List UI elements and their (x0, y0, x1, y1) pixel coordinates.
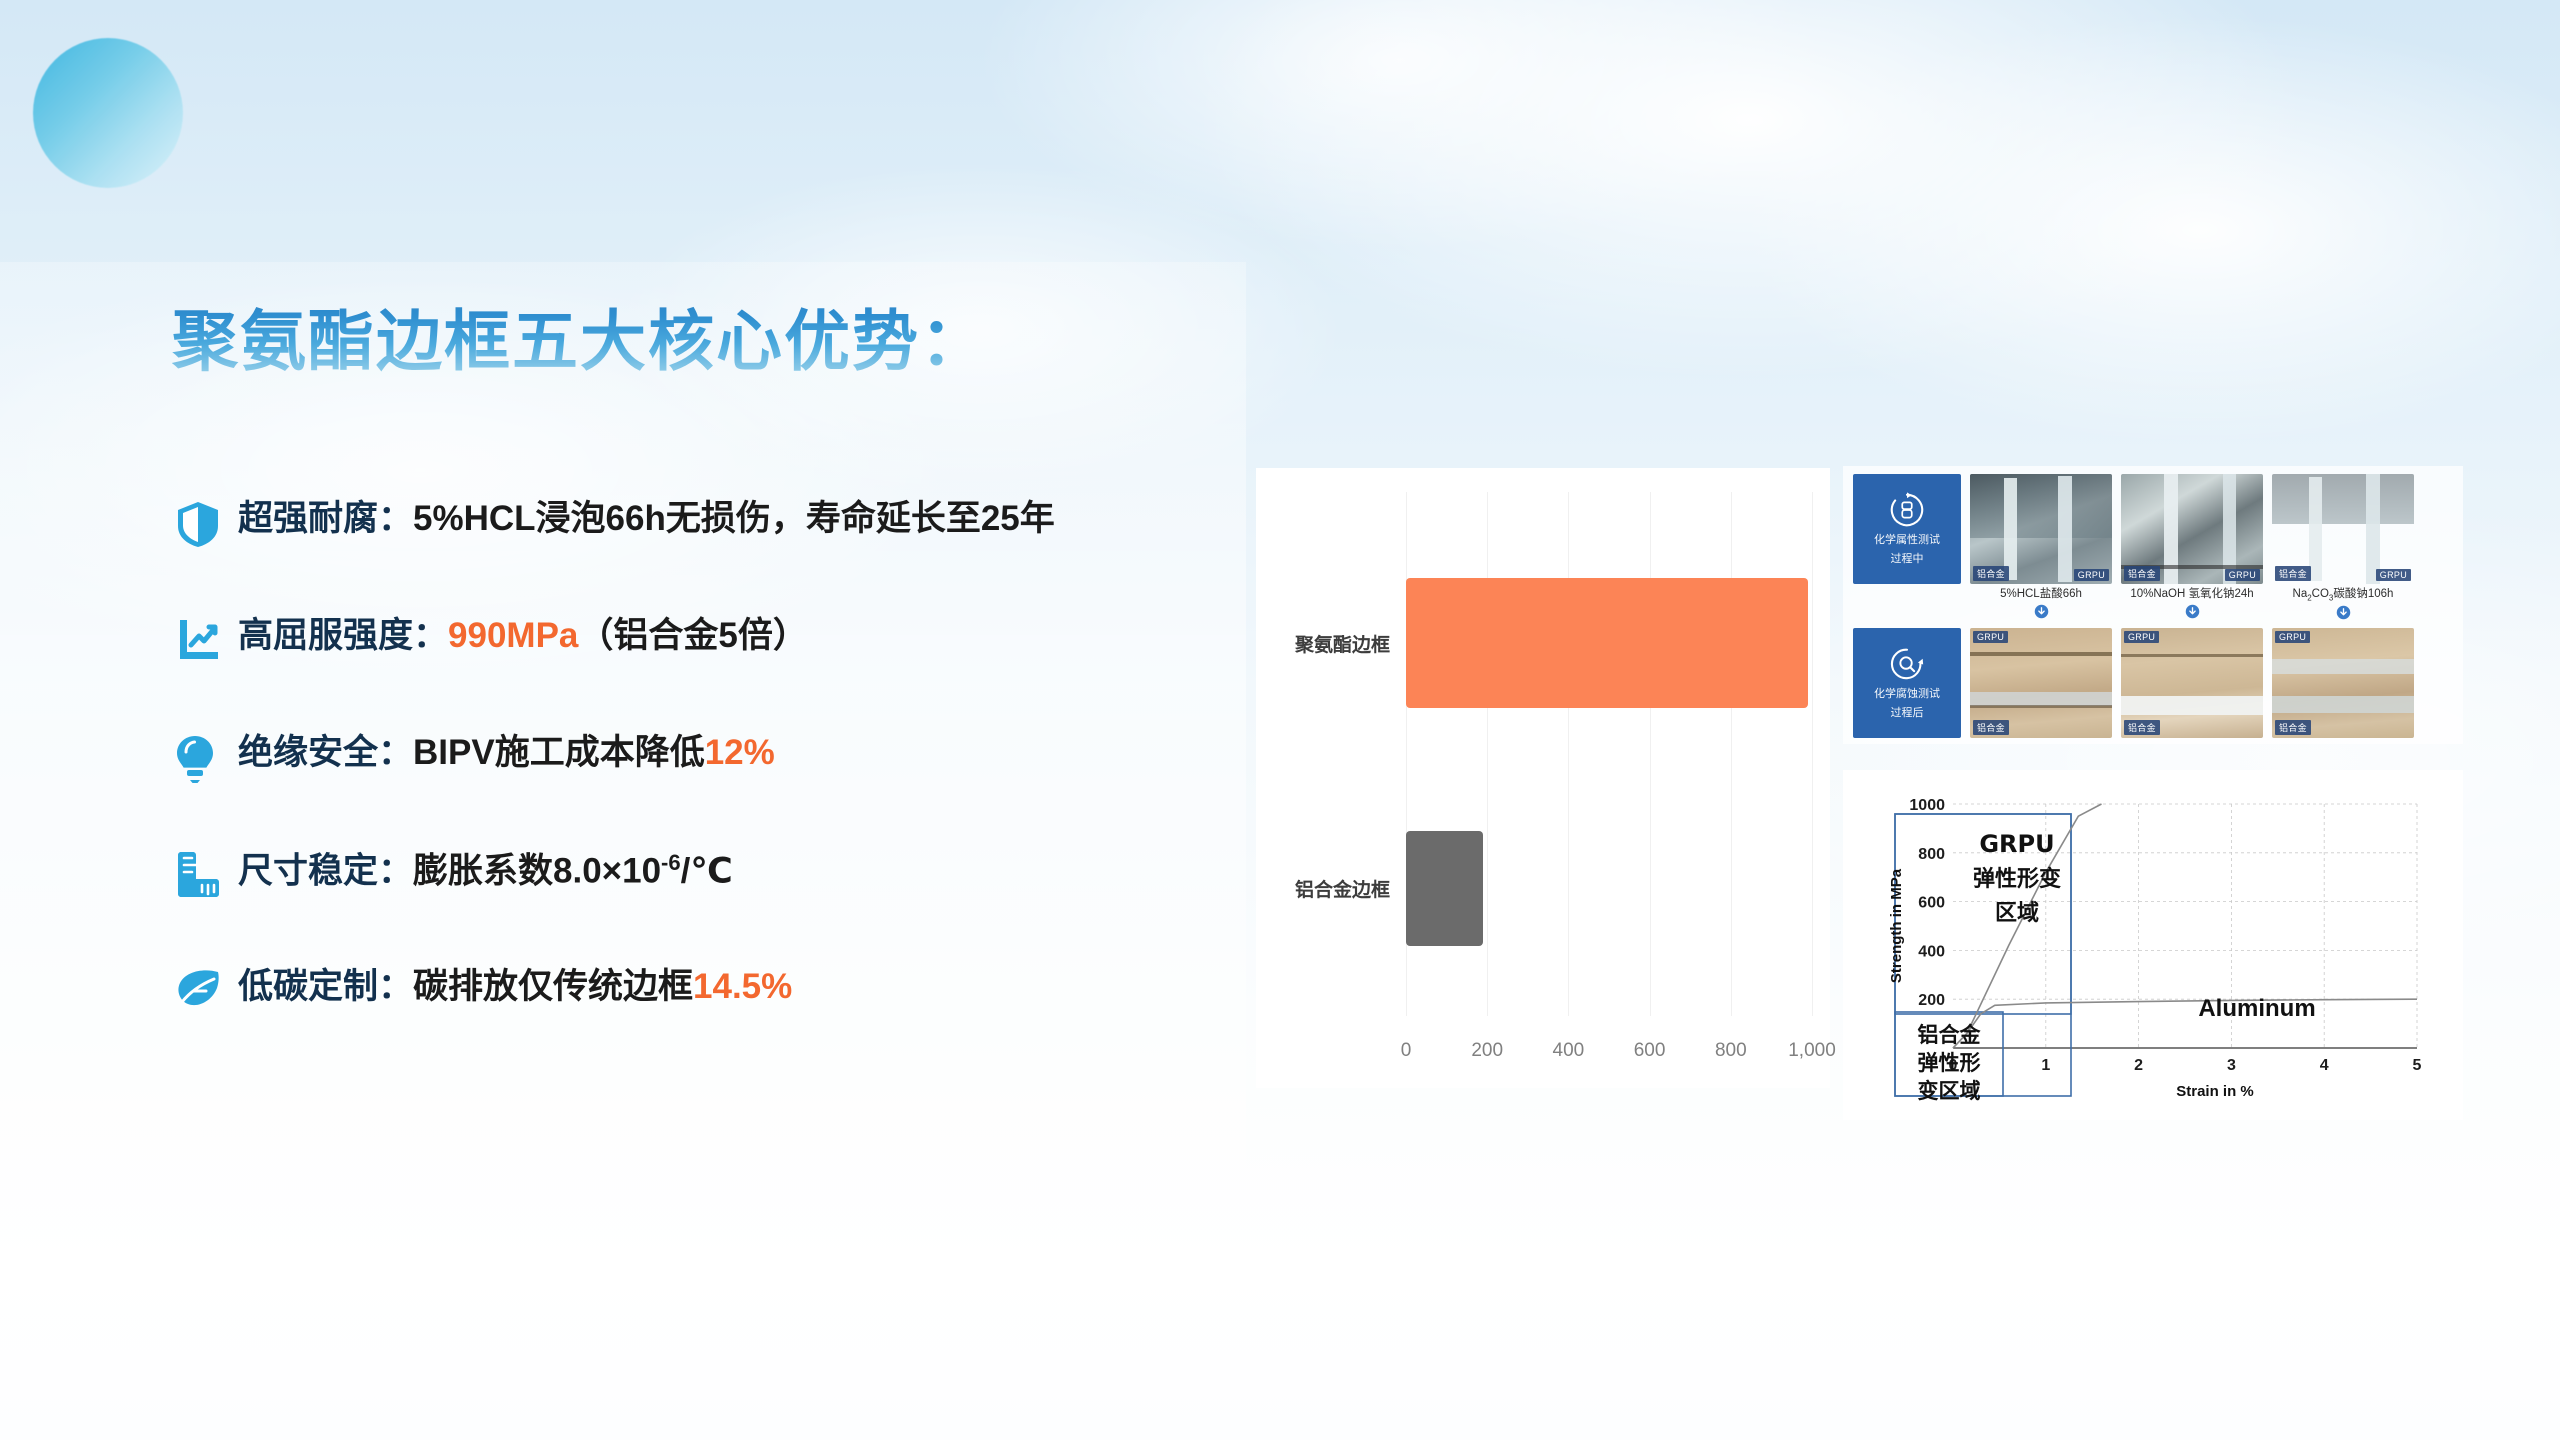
bullet-body: 膨胀系数8.0×10 (413, 852, 661, 891)
tile-caption-line2: 过程后 (1891, 707, 1924, 721)
list-item-text: 绝缘安全：BIPV施工成本降低12% (238, 730, 775, 773)
ss-y-tick: 600 (1918, 895, 1945, 912)
ss-x-tick: 1 (2041, 1057, 2050, 1074)
bullet-highlight: 14.5% (693, 967, 792, 1006)
chart-gridline (1812, 492, 1813, 1016)
caption-cell: Na2CO3碳酸钠106h (2272, 588, 2414, 628)
tile-caption-line2: 过程中 (1891, 553, 1924, 567)
stress-strain-svg: 2004006008001000012345Strength in MPaStr… (1857, 780, 2449, 1110)
ss-y-tick: 1000 (1909, 797, 1945, 814)
ss-annotation-aluminum-zone: 变区域 (1918, 1079, 1981, 1103)
x-axis-tick-label: 400 (1553, 1040, 1585, 1062)
bar-chart-plot-area: 02004006008001,000聚氨酯边框铝合金边框 (1256, 468, 1830, 1088)
caption-post: 碳酸钠106h (2333, 588, 2393, 600)
ss-x-axis-title: Strain in % (2176, 1083, 2254, 1100)
line-chart-icon (176, 613, 238, 663)
leaf-icon (176, 964, 238, 1008)
bullet-highlight: 12% (705, 733, 775, 772)
bullet-label: 超强耐腐： (238, 499, 413, 538)
photo-row-before: 化学属性测试 过程中 铝合金 GRPU 铝合金 GRPU 铝合金 GRPU (1853, 474, 2453, 584)
ss-y-tick: 200 (1918, 992, 1945, 1009)
photo-row-after: 化学腐蚀测试 过程后 GRPU 铝合金 GRPU 铝合金 GRPU 铝合金 (1853, 628, 2453, 738)
photo-tag-left: 铝合金 (1973, 566, 2009, 581)
ss-y-tick: 800 (1918, 846, 1945, 863)
caption-text: 5%HCL盐酸66h (1970, 588, 2112, 602)
photo-tag-bottom: 铝合金 (1973, 720, 2009, 735)
bullet-label: 尺寸稳定： (238, 852, 413, 891)
list-item: 尺寸稳定：膨胀系数8.0×10-6/℃ (176, 847, 1236, 964)
caption-pre: Na (2293, 588, 2308, 600)
bullet-body: BIPV施工成本降低 (413, 733, 705, 772)
shield-icon (176, 496, 238, 548)
x-axis-tick-label: 800 (1715, 1040, 1747, 1062)
photo-tag-top: GRPU (2275, 631, 2310, 643)
ss-annotation-aluminum-zone: 弹性形 (1918, 1051, 1981, 1075)
tile-caption-line1: 化学腐蚀测试 (1874, 688, 1940, 702)
ss-x-tick: 2 (2134, 1057, 2143, 1074)
bar-category-label: 铝合金边框 (1295, 875, 1390, 902)
ss-annotation-grpu: 弹性形变 (1973, 866, 2061, 892)
page-title: 聚氨酯边框五大核心优势： (172, 288, 988, 384)
ss-annotation-grpu: 区域 (1995, 900, 2039, 926)
list-item-text: 尺寸稳定：膨胀系数8.0×10-6/℃ (238, 847, 733, 891)
ss-x-tick: 3 (2227, 1057, 2236, 1074)
caption-spacer (1853, 588, 1961, 628)
test-photo: 铝合金 GRPU (2121, 474, 2263, 584)
bar-category-label: 聚氨酯边框 (1295, 630, 1390, 657)
stress-strain-chart: 2004006008001000012345Strength in MPaStr… (1843, 770, 2463, 1120)
chart-gridline (1568, 492, 1569, 1016)
test-photo: 铝合金 GRPU (2272, 474, 2414, 584)
photo-tag-left: 铝合金 (2124, 566, 2160, 581)
bullet-label: 高屈服强度： (238, 616, 448, 655)
test-photo: GRPU 铝合金 (2272, 628, 2414, 738)
chemical-test-photo-grid: 化学属性测试 过程中 铝合金 GRPU 铝合金 GRPU 铝合金 GRPU (1843, 466, 2463, 744)
caption-text: 10%NaOH 氢氧化钠24h (2121, 588, 2263, 602)
bullet-body: 5%HCL浸泡66h无损伤，寿命延长至25年 (413, 499, 1055, 538)
bullet-label: 低碳定制： (238, 967, 413, 1006)
ss-x-tick: 4 (2320, 1057, 2329, 1074)
sun-circle-decoration (33, 38, 183, 188)
list-item: 高屈服强度：990MPa（铝合金5倍） (176, 613, 1236, 730)
list-item-text: 高屈服强度：990MPa（铝合金5倍） (238, 613, 808, 656)
test-photo: 铝合金 GRPU (1970, 474, 2112, 584)
download-arrow-icon (2034, 604, 2049, 619)
chart-gridline (1731, 492, 1732, 1016)
ss-series-aluminum (1953, 999, 2417, 1048)
ss-annotation-grpu: GRPU (1979, 830, 2054, 858)
bullet-superscript: -6 (661, 850, 681, 875)
caption-cell: 10%NaOH 氢氧化钠24h (2121, 588, 2263, 628)
chemical-corrosion-after-tile: 化学腐蚀测试 过程后 (1853, 628, 1961, 738)
ruler-icon (176, 847, 238, 899)
photo-tag-bottom: 铝合金 (2124, 720, 2160, 735)
yield-strength-bar-chart: 02004006008001,000聚氨酯边框铝合金边框 (1256, 468, 1830, 1088)
photo-tag-left: 铝合金 (2275, 566, 2311, 581)
x-axis-tick-label: 1,000 (1788, 1040, 1836, 1062)
chemical-test-in-progress-tile: 化学属性测试 过程中 (1853, 474, 1961, 584)
photo-tag-right: GRPU (2376, 569, 2411, 581)
caption-mid: CO (2312, 588, 2329, 600)
ss-x-tick: 5 (2413, 1057, 2422, 1074)
bullet-suffix2: /℃ (681, 852, 733, 891)
tile-caption-line1: 化学属性测试 (1874, 534, 1940, 548)
list-item: 绝缘安全：BIPV施工成本降低12% (176, 730, 1236, 847)
lightbulb-icon (176, 730, 238, 784)
test-photo: GRPU 铝合金 (2121, 628, 2263, 738)
chemical-corrosion-after-icon (1888, 645, 1926, 683)
chemical-test-in-progress-icon (1888, 491, 1926, 529)
advantages-list: 超强耐腐：5%HCL浸泡66h无损伤，寿命延长至25年 高屈服强度：990MPa… (176, 496, 1236, 1081)
bullet-label: 绝缘安全： (238, 733, 413, 772)
chart-gridline (1487, 492, 1488, 1016)
photo-tag-right: GRPU (2225, 569, 2260, 581)
list-item-text: 低碳定制：碳排放仅传统边框14.5% (238, 964, 792, 1007)
download-arrow-icon (2336, 605, 2351, 620)
download-arrow-icon (2185, 604, 2200, 619)
chart-gridline (1650, 492, 1651, 1016)
bar-2 (1406, 831, 1483, 946)
ss-y-axis-title: Strength in MPa (1888, 868, 1905, 983)
x-axis-tick-label: 0 (1401, 1040, 1412, 1062)
bar-1 (1406, 578, 1808, 708)
ss-annotation-aluminum-zone: 铝合金 (1918, 1023, 1982, 1047)
photo-tag-bottom: 铝合金 (2275, 720, 2311, 735)
list-item-text: 超强耐腐：5%HCL浸泡66h无损伤，寿命延长至25年 (238, 496, 1055, 539)
photo-caption-row: 5%HCL盐酸66h 10%NaOH 氢氧化钠24h Na2CO3碳酸钠106h (1853, 584, 2453, 628)
test-photo: GRPU 铝合金 (1970, 628, 2112, 738)
bullet-highlight: 990MPa (448, 616, 578, 655)
ss-y-tick: 400 (1918, 943, 1945, 960)
x-axis-tick-label: 600 (1634, 1040, 1666, 1062)
photo-tag-top: GRPU (2124, 631, 2159, 643)
caption-text: Na2CO3碳酸钠106h (2272, 588, 2414, 603)
bullet-suffix: （铝合金5倍） (578, 616, 807, 655)
caption-cell: 5%HCL盐酸66h (1970, 588, 2112, 628)
photo-tag-top: GRPU (1973, 631, 2008, 643)
list-item: 超强耐腐：5%HCL浸泡66h无损伤，寿命延长至25年 (176, 496, 1236, 613)
photo-tag-right: GRPU (2074, 569, 2109, 581)
list-item: 低碳定制：碳排放仅传统边框14.5% (176, 964, 1236, 1081)
x-axis-tick-label: 200 (1471, 1040, 1503, 1062)
ss-annotation-aluminum: Aluminum (2198, 995, 2315, 1022)
bullet-body: 碳排放仅传统边框 (413, 967, 693, 1006)
